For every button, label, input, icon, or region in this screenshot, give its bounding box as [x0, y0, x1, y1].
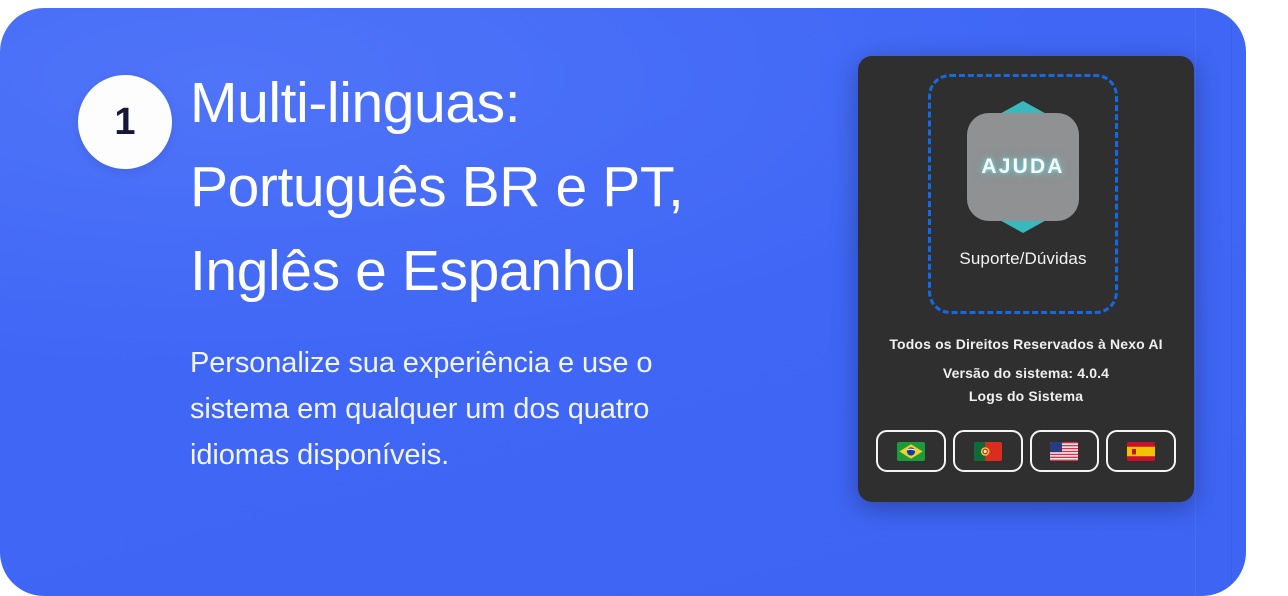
support-caption: Suporte/Dúvidas — [959, 249, 1086, 269]
help-icon: AJUDA — [962, 101, 1084, 233]
flag-usa-icon — [1050, 442, 1078, 461]
flag-spain-icon — [1127, 442, 1155, 461]
app-preview-panel: AJUDA Suporte/Dúvidas Todos os Direitos … — [858, 56, 1194, 502]
slide-description: Personalize sua experiência e use o sist… — [190, 313, 750, 478]
slide-canvas: 1 Multi-linguas: Português BR e PT, Ingl… — [0, 0, 1288, 558]
flag-brazil-icon — [897, 442, 925, 461]
copyright-text: Todos os Direitos Reservados à Nexo AI — [858, 334, 1194, 355]
help-icon-body: AJUDA — [967, 113, 1079, 221]
support-highlight-box[interactable]: AJUDA Suporte/Dúvidas — [928, 74, 1118, 314]
card-seam-line — [1195, 8, 1196, 596]
language-button-portugal[interactable] — [953, 430, 1023, 472]
language-selector — [876, 430, 1176, 472]
flag-portugal-icon — [974, 442, 1002, 461]
language-button-brazil[interactable] — [876, 430, 946, 472]
system-logs-link[interactable]: Logs do Sistema — [858, 386, 1194, 407]
step-number-label: 1 — [114, 103, 135, 141]
step-number-badge: 1 — [78, 75, 172, 169]
slide-text-block: Multi-linguas: Português BR e PT, Inglês… — [190, 62, 750, 479]
page-title: Multi-linguas: Português BR e PT, Inglês… — [190, 62, 750, 313]
help-icon-label: AJUDA — [981, 155, 1064, 179]
language-button-usa[interactable] — [1030, 430, 1100, 472]
card-seam-line-secondary — [1231, 8, 1232, 596]
language-button-spain[interactable] — [1106, 430, 1176, 472]
panel-footer: Todos os Direitos Reservados à Nexo AI V… — [858, 334, 1194, 407]
system-version-text: Versão do sistema: 4.0.4 — [858, 363, 1194, 384]
